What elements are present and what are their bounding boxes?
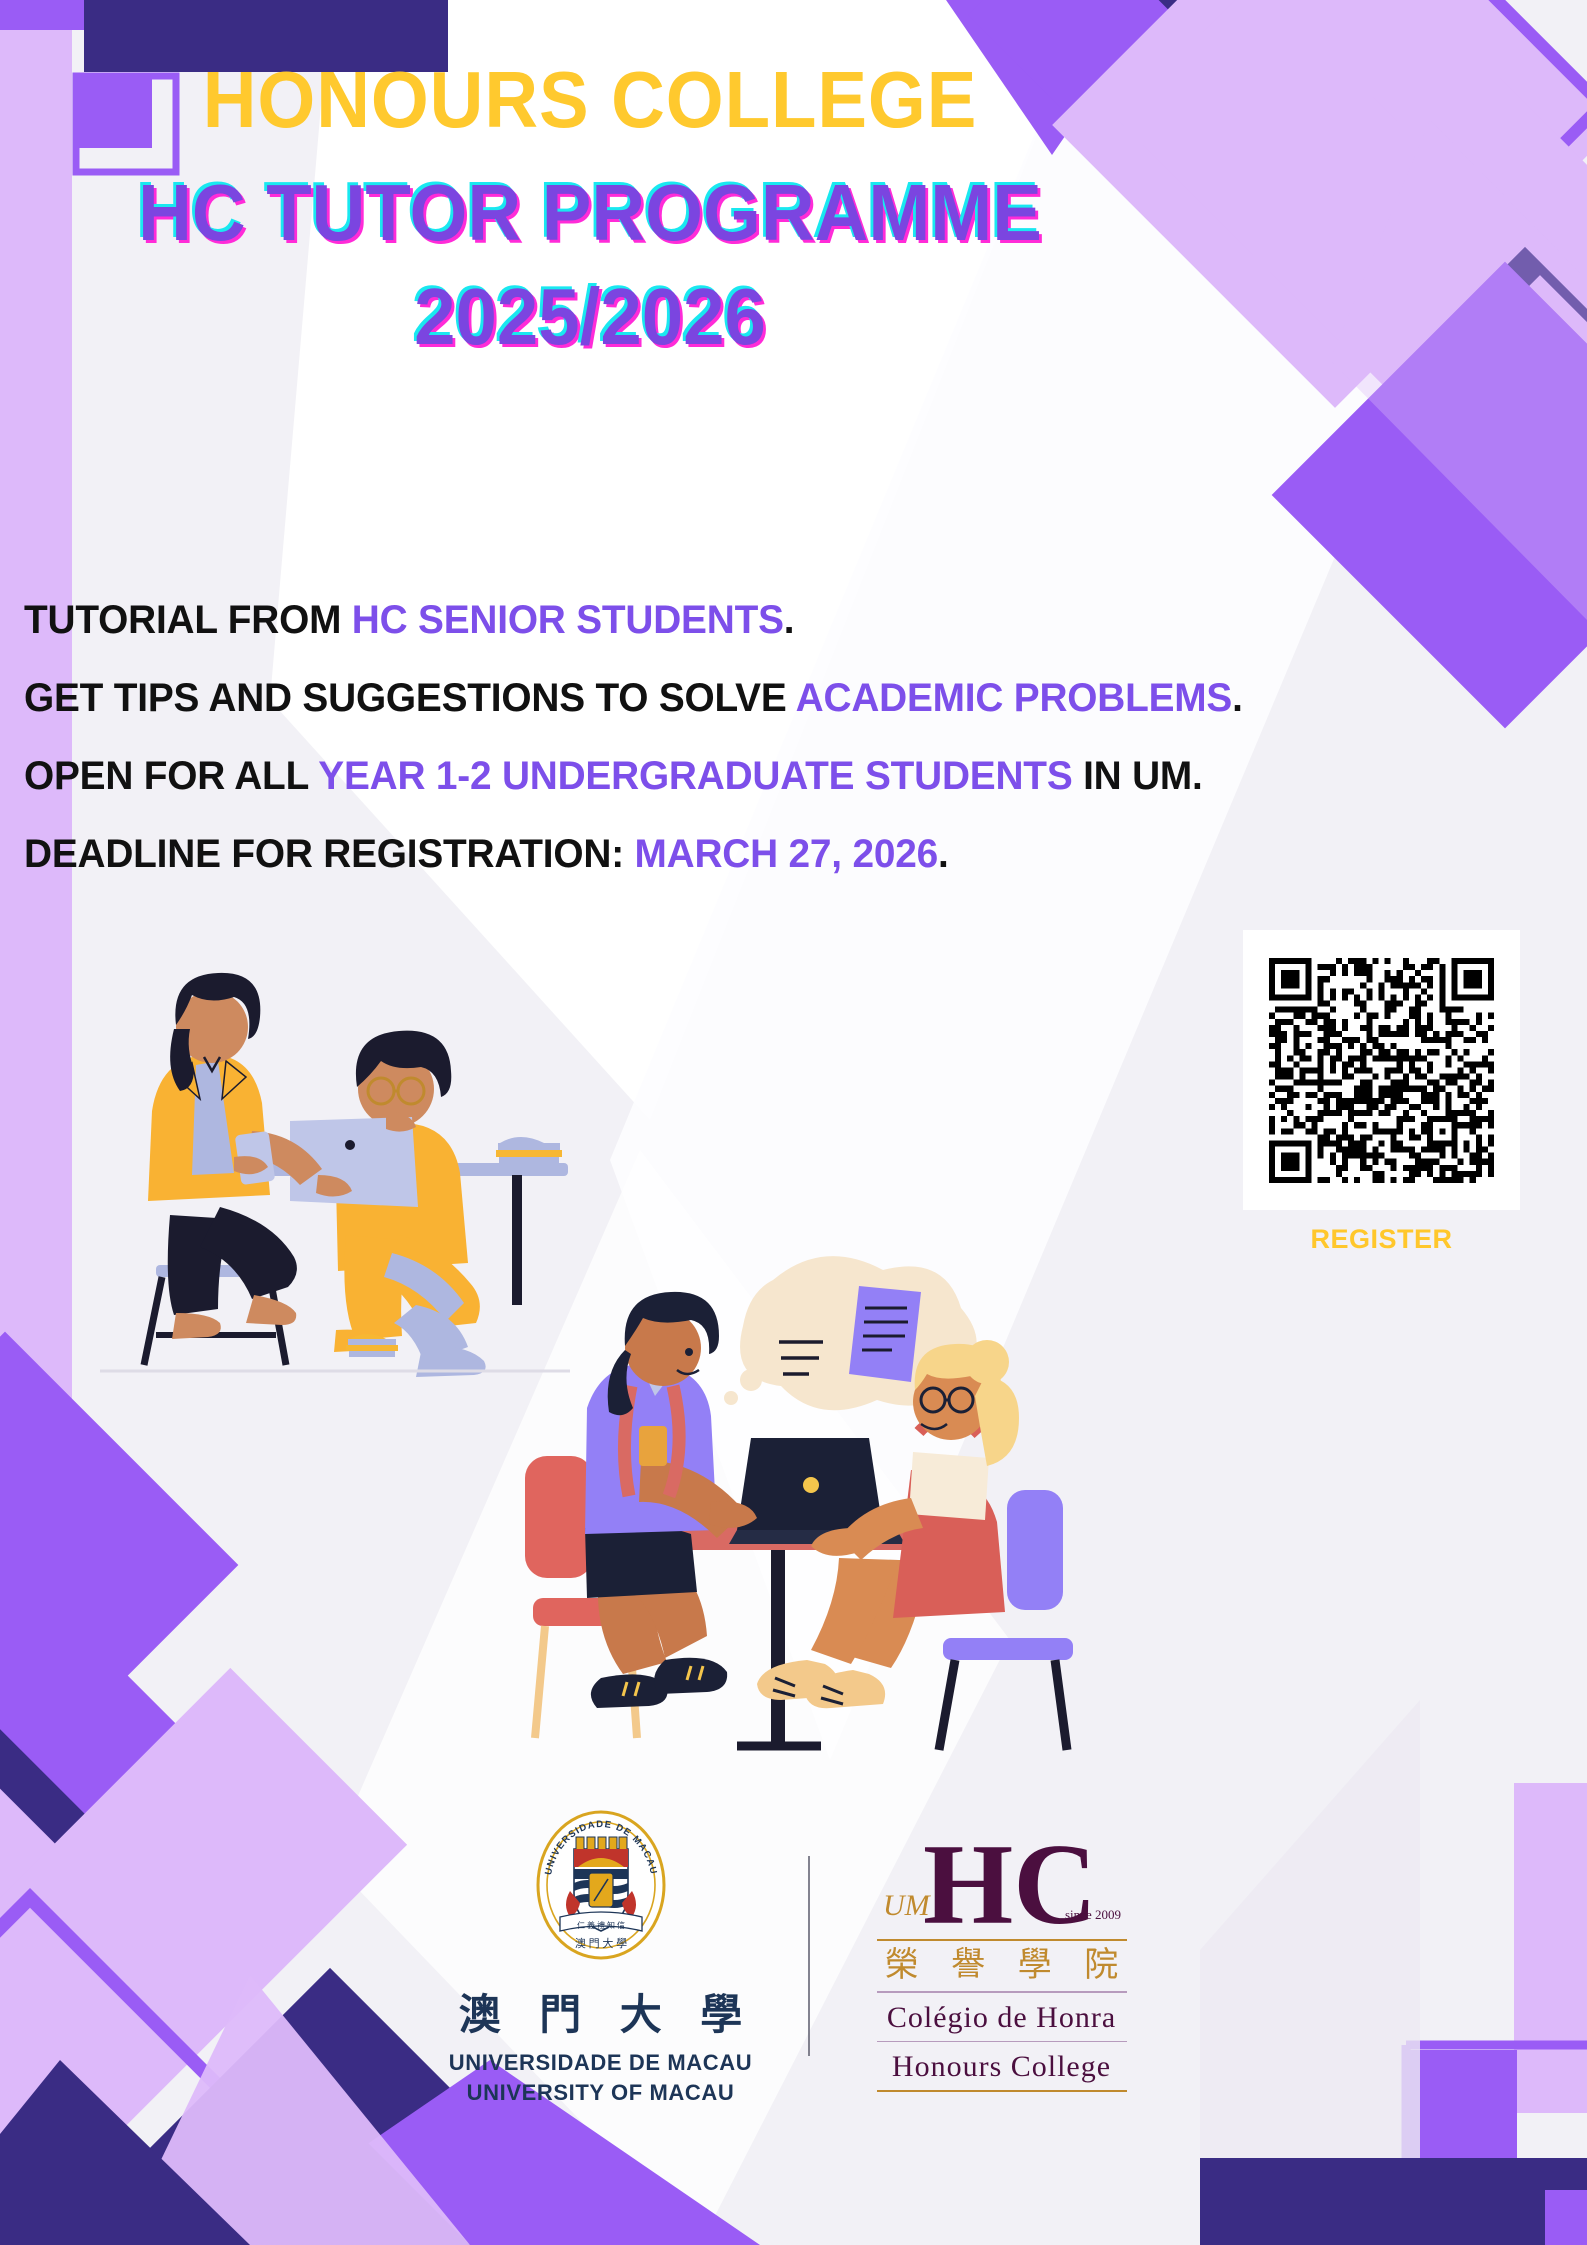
body-line-tutorial-pre: TUTORIAL FROM: [24, 598, 352, 642]
body-line-deadline-highlight: MARCH 27, 2026: [635, 832, 939, 876]
poster-root: HONOURS COLLEGE HC TUTOR PROGRAMME 2025/…: [0, 0, 1587, 2245]
title-block: HONOURS COLLEGE HC TUTOR PROGRAMME 2025/…: [0, 60, 1180, 365]
hc-rule-mid1: [877, 1991, 1127, 1993]
body-line-eligible-post: IN UM.: [1073, 754, 1203, 798]
qr-register-label: REGISTER: [1243, 1224, 1520, 1255]
hc-rule-mid2: [877, 2041, 1127, 2043]
illustration-students-laptop: [515, 1240, 1075, 1770]
hc-portuguese-name: Colégio de Honra: [887, 2001, 1116, 2035]
um-logo: UNIVERSIDADE DE MACAU: [436, 1805, 766, 2106]
um-crest-icon: UNIVERSIDADE DE MACAU: [526, 1805, 676, 1975]
page-title-programme: HC TUTOR PROGRAMME: [41, 166, 1138, 260]
body-line-tutorial: TUTORIAL FROM HC SENIOR STUDENTS.: [24, 600, 1382, 640]
um-portuguese-name: UNIVERSIDADE DE MACAU: [449, 2050, 753, 2076]
hc-monogram-icon: UM HC since 2009: [877, 1819, 1127, 1939]
hc-logo: UM HC since 2009 榮 譽 學 院 Colégio de Honr…: [852, 1819, 1152, 2092]
page-title-honours: HONOURS COLLEGE: [41, 60, 1138, 140]
body-line-eligible-pre: OPEN FOR ALL: [24, 754, 318, 798]
hc-rule-top: [877, 1939, 1127, 1941]
body-line-deadline: DEADLINE FOR REGISTRATION: MARCH 27, 202…: [24, 834, 1382, 874]
body-line-tips-pre: GET TIPS AND SUGGESTIONS TO SOLVE: [24, 676, 796, 720]
page-title-year: 2025/2026: [41, 270, 1138, 364]
logo-divider: [808, 1856, 810, 2056]
body-line-tips-post: .: [1232, 676, 1243, 720]
qr-card[interactable]: [1243, 930, 1520, 1210]
body-line-eligible: OPEN FOR ALL YEAR 1-2 UNDERGRADUATE STUD…: [24, 756, 1382, 796]
hc-since-text: since 2009: [1065, 1907, 1121, 1922]
body-line-tips-highlight: ACADEMIC PROBLEMS: [796, 676, 1232, 720]
svg-text:仁 義 禮 知 信: 仁 義 禮 知 信: [577, 1920, 625, 1930]
hc-chinese-name: 榮 譽 學 院: [885, 1949, 1131, 1983]
illustration-students-tablet: [100, 935, 570, 1385]
um-english-name: UNIVERSITY OF MACAU: [467, 2080, 735, 2106]
body-line-tutorial-post: .: [784, 598, 795, 642]
body-line-deadline-pre: DEADLINE FOR REGISTRATION:: [24, 832, 635, 876]
hc-rule-bottom: [877, 2090, 1127, 2092]
um-chinese-name: 澳 門 大 學: [459, 1981, 757, 2042]
body-line-tips: GET TIPS AND SUGGESTIONS TO SOLVE ACADEM…: [24, 678, 1382, 718]
body-line-eligible-highlight: YEAR 1-2 UNDERGRADUATE STUDENTS: [318, 754, 1072, 798]
footer-logos: UNIVERSIDADE DE MACAU: [0, 1805, 1587, 2106]
qr-register-block[interactable]: REGISTER: [1243, 930, 1520, 1255]
svg-text:澳 門 大 學: 澳 門 大 學: [574, 1936, 626, 1950]
qr-code-icon[interactable]: [1269, 958, 1494, 1183]
hc-english-name: Honours College: [892, 2050, 1111, 2084]
body-line-deadline-post: .: [938, 832, 949, 876]
body-text-block: TUTORIAL FROM HC SENIOR STUDENTS. GET TI…: [24, 600, 1424, 912]
body-line-tutorial-highlight: HC SENIOR STUDENTS: [352, 598, 784, 642]
